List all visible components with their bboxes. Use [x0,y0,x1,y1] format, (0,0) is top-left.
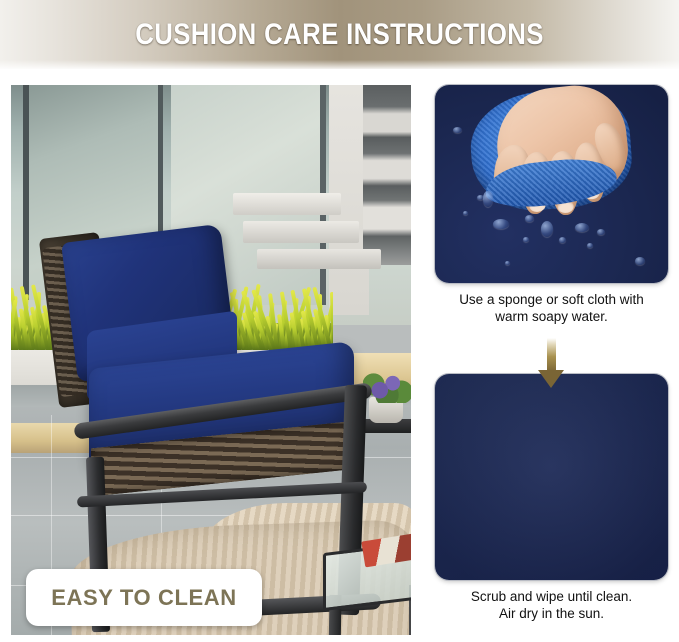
page-title: CUSHION CARE INSTRUCTIONS [135,18,544,52]
easy-to-clean-label: EASY TO CLEAN [51,585,236,611]
water-droplet [453,127,462,133]
water-droplet [493,219,509,229]
water-droplet [505,261,510,265]
water-droplet [597,229,605,235]
step-wash-caption-line2: warm soapy water. [435,308,668,325]
header-banner: CUSHION CARE INSTRUCTIONS [0,0,679,69]
step-dry-caption: Scrub and wipe until clean. Air dry in t… [435,580,668,622]
hero-product-photo [11,85,411,635]
step-dry-caption-line2: Air dry in the sun. [435,605,668,622]
water-droplet [541,221,553,237]
step-dry-image [435,374,668,580]
down-arrow-icon [538,338,564,388]
water-droplet [525,215,534,222]
step-wash-image [435,85,668,283]
water-droplet [559,237,566,243]
water-droplet [483,191,493,207]
water-droplet [523,237,529,242]
easy-to-clean-badge: EASY TO CLEAN [26,569,262,626]
arrow-head [538,370,564,388]
water-droplet [463,211,468,215]
water-droplet [635,257,645,265]
step-dry-caption-line1: Scrub and wipe until clean. [435,588,668,605]
water-droplet [587,243,593,248]
banner-fade [0,60,679,72]
step-wash-caption-line1: Use a sponge or soft cloth with [435,291,668,308]
water-droplet [575,223,589,232]
arrow-shaft [547,338,556,372]
step-wash-caption: Use a sponge or soft cloth with warm soa… [435,283,668,325]
